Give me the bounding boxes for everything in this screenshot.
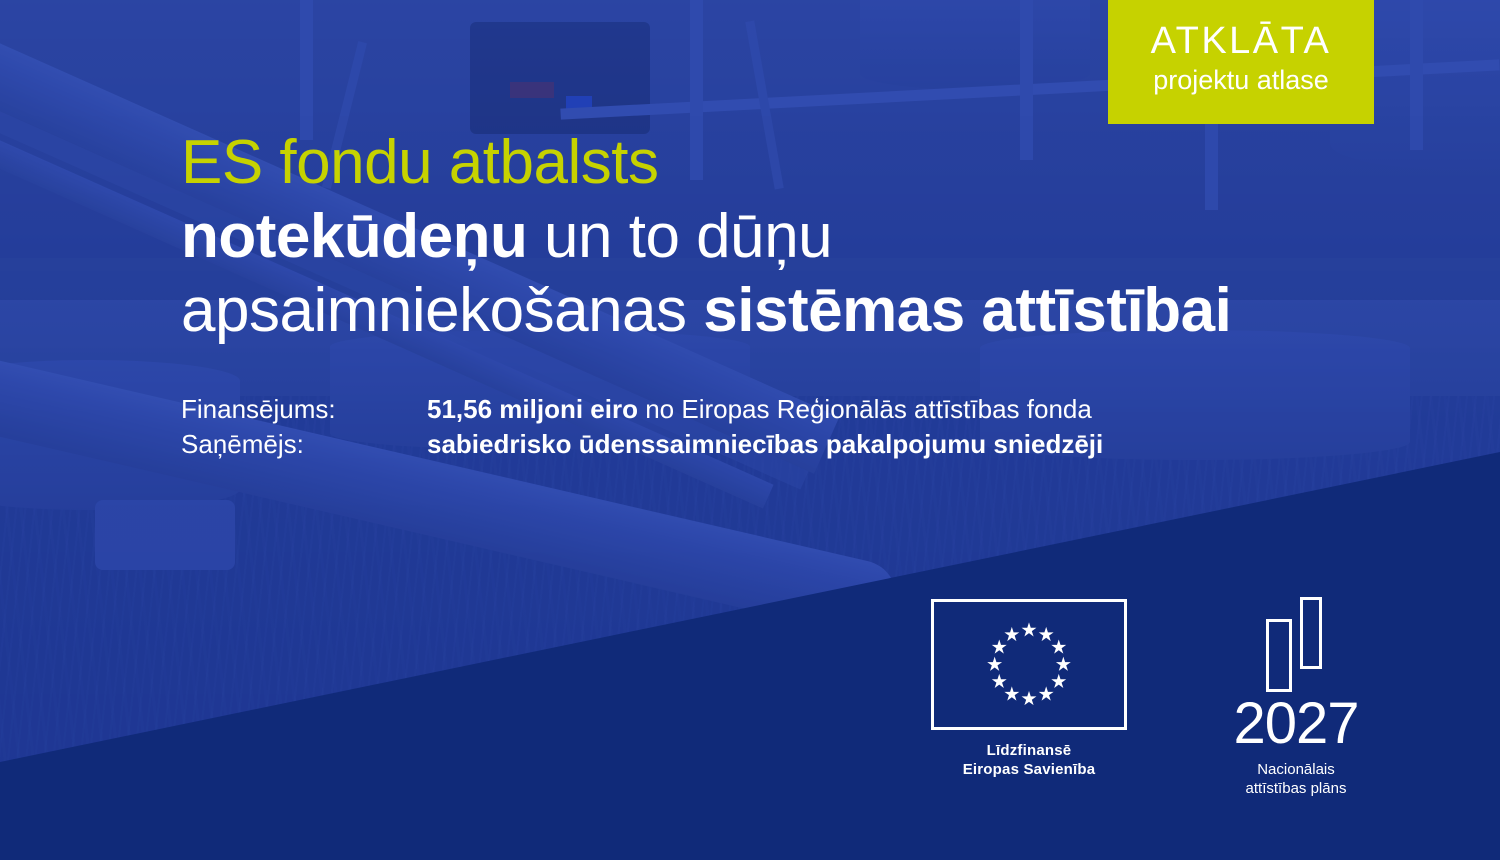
- page-title: ES fondu atbalsts notekūdeņu un to dūņu …: [181, 126, 1381, 348]
- headline-line-3-regular: apsaimniekošanas: [181, 276, 703, 345]
- eu-emblem: Līdzfinansē Eiropas Savienība: [931, 599, 1127, 779]
- funding-label: Finansējums:: [181, 392, 427, 427]
- headline-line-2: notekūdeņu un to dūņu: [181, 200, 1381, 274]
- funding-details: Finansējums: 51,56 miljoni eiro no Eirop…: [181, 392, 1103, 462]
- nap-caption: Nacionālais attīstības plāns: [1203, 760, 1389, 798]
- eu-caption-line-1: Līdzfinansē: [931, 741, 1127, 760]
- headline-line-3-bold: sistēmas attīstībai: [703, 276, 1231, 345]
- headline-line-2-bold: notekūdeņu: [181, 202, 527, 271]
- recipient-name: sabiedrisko ūdenssaimniecības pakalpojum…: [427, 429, 1103, 459]
- badge-line-1: ATKLĀTA: [1151, 22, 1332, 62]
- nap-caption-line-2: attīstības plāns: [1203, 779, 1389, 798]
- headline-line-3: apsaimniekošanas sistēmas attīstībai: [181, 274, 1381, 348]
- eu-flag-stars-icon: [931, 599, 1127, 730]
- eu-caption-line-2: Eiropas Savienība: [931, 760, 1127, 779]
- nap-emblem: 2027 Nacionālais attīstības plāns: [1203, 597, 1389, 798]
- nap-bar-right: [1300, 597, 1322, 669]
- poster-canvas: ATKLĀTA projektu atlase ES fondu atbalst…: [0, 0, 1500, 860]
- badge-line-2: projektu atlase: [1153, 63, 1329, 98]
- funding-source: no Eiropas Reģionālās attīstības fonda: [638, 394, 1092, 424]
- nap-caption-line-1: Nacionālais: [1203, 760, 1389, 779]
- recipient-value: sabiedrisko ūdenssaimniecības pakalpojum…: [427, 427, 1103, 462]
- funding-row: Finansējums: 51,56 miljoni eiro no Eirop…: [181, 392, 1103, 427]
- eu-caption: Līdzfinansē Eiropas Savienība: [931, 741, 1127, 779]
- status-badge: ATKLĀTA projektu atlase: [1108, 0, 1374, 124]
- headline-line-2-regular: un to dūņu: [527, 202, 832, 271]
- headline-line-1: ES fondu atbalsts: [181, 126, 1381, 200]
- nap-bars-icon: [1203, 597, 1389, 692]
- funding-amount: 51,56 miljoni eiro: [427, 394, 638, 424]
- nap-year: 2027: [1203, 694, 1389, 754]
- funding-value: 51,56 miljoni eiro no Eiropas Reģionālās…: [427, 392, 1092, 427]
- recipient-label: Saņēmējs:: [181, 427, 427, 462]
- nap-bar-left: [1266, 619, 1292, 692]
- recipient-row: Saņēmējs: sabiedrisko ūdenssaimniecības …: [181, 427, 1103, 462]
- eu-stars-svg: [934, 602, 1124, 727]
